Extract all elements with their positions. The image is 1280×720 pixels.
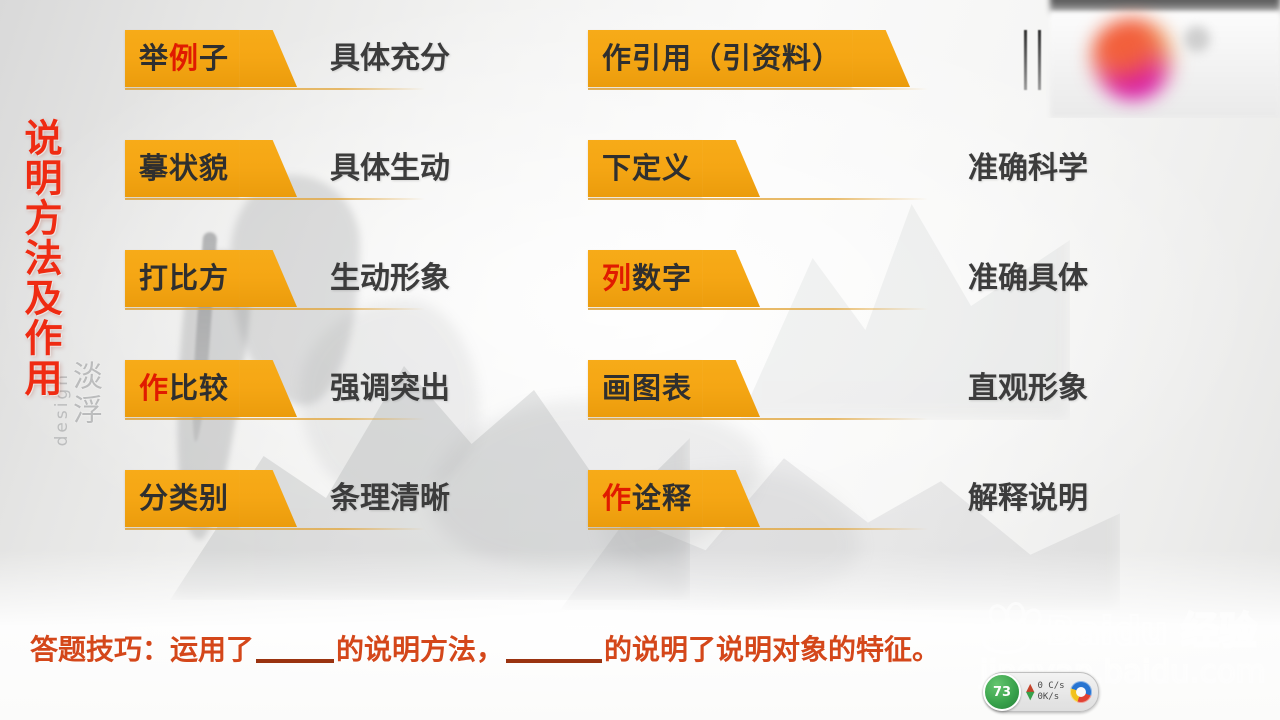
method-effect-text: 具体充分 [330,30,450,87]
method-row: 作引用（引资料） [588,22,1148,132]
method-tag-text-pre: 下定义 [602,151,692,185]
method-tag[interactable]: 摹状貌 [125,140,239,197]
method-row: 作诠释 解释说明 [588,462,1148,572]
method-tag[interactable]: 作诠释 [588,470,702,527]
row-underline [588,198,928,200]
method-tag-text-pre: 打比方 [139,261,229,295]
method-effect-text: 解释说明 [968,470,1088,527]
network-speed-widget[interactable]: 73 ▲ ▼ 0 C/s 0K/s [984,672,1099,712]
answer-tip-part1: 答题技巧：运用了 [30,633,254,666]
row-underline [588,528,928,530]
method-tag-text-post: 子 [199,41,229,75]
method-row: 列数字 准确具体 [588,242,1148,352]
method-tag-text-pre: 作引用（引资料） [602,41,842,75]
method-tag-wedge [239,30,297,87]
method-effect-text: 条理清晰 [330,470,450,527]
method-row: 分类别 条理清晰 [125,462,555,572]
row-underline [125,198,425,200]
method-tag-text-highlight: 作 [602,481,632,515]
method-tag-text-post: 诠释 [632,481,692,515]
row-underline [588,418,928,420]
answer-blank-1[interactable] [256,659,334,663]
row-underline [125,528,425,530]
answer-tip-line: 答题技巧：运用了的说明方法，的说明了说明对象的特征。 [30,628,940,668]
slide-canvas: 淡浮 design 说明方法及作用 举例子 具体充分 摹状貌 [0,0,1280,720]
method-tag[interactable]: 分类别 [125,470,239,527]
method-tag-text-pre: 画图表 [602,371,692,405]
method-effect-text: 具体生动 [330,140,450,197]
method-row: 作比较 强调突出 [125,352,555,462]
method-row: 举例子 具体充分 [125,22,555,132]
download-rate: 0K/s [1037,692,1064,703]
row-underline [125,308,425,310]
method-tag-wedge [239,360,297,417]
upload-rate: 0 C/s [1037,681,1064,692]
method-effect-text: 强调突出 [330,360,450,417]
method-tag[interactable]: 列数字 [588,250,702,307]
method-effect-text: 生动形象 [330,250,450,307]
method-tag[interactable]: 作引用（引资料） [588,30,852,87]
method-tag-wedge [239,470,297,527]
method-effect-text: 直观形象 [968,360,1088,417]
method-tag-text-highlight: 列 [602,261,632,295]
method-tag[interactable]: 作比较 [125,360,239,417]
method-row: 摹状貌 具体生动 [125,132,555,242]
method-tag-wedge [239,250,297,307]
method-tag-wedge [702,470,760,527]
speed-rates: 0 C/s 0K/s [1037,681,1064,703]
page-title-vertical: 说明方法及作用 [11,118,59,398]
method-row: 打比方 生动形象 [125,242,555,352]
method-row: 画图表 直观形象 [588,352,1148,462]
method-tag-text-post: 数字 [632,261,692,295]
method-tag[interactable]: 下定义 [588,140,702,197]
method-tag-text-highlight: 作 [139,371,169,405]
row-underline [588,88,928,90]
method-tag-wedge [702,360,760,417]
method-effect-text: 准确科学 [968,140,1088,197]
method-tag-text-pre: 举 [139,41,169,75]
row-underline [588,308,928,310]
method-tag[interactable]: 打比方 [125,250,239,307]
method-tag-text-pre: 分类别 [139,481,229,515]
method-tag-wedge [702,140,760,197]
methods-column-left: 举例子 具体充分 摹状貌 具体生动 打比方 [125,22,555,572]
method-tag-text-highlight: 例 [169,41,199,75]
method-tag-text-pre: 摹状貌 [139,151,229,185]
answer-tip-part2: 的说明方法， [336,633,504,666]
method-tag[interactable]: 举例子 [125,30,239,87]
method-tag-wedge [239,140,297,197]
speed-arrows: ▲ ▼ [1026,684,1034,700]
speed-score-badge[interactable]: 73 [983,673,1021,711]
method-tag-wedge [852,30,910,87]
methods-column-right: 作引用（引资料） 下定义 准确科学 列数字 [588,22,1148,572]
answer-tip-part3: 的说明了说明对象的特征。 [604,633,940,666]
method-row: 下定义 准确科学 [588,132,1148,242]
method-tag[interactable]: 画图表 [588,360,702,417]
method-tag-wedge [702,250,760,307]
browser-icon[interactable] [1070,681,1092,703]
arrow-down-icon: ▼ [1026,692,1034,700]
row-underline [125,418,425,420]
blurred-gray-dot [1184,26,1210,52]
row-underline [125,88,425,90]
method-effect-text: 准确具体 [968,250,1088,307]
answer-blank-2[interactable] [506,659,602,663]
method-tag-text-post: 比较 [169,371,229,405]
